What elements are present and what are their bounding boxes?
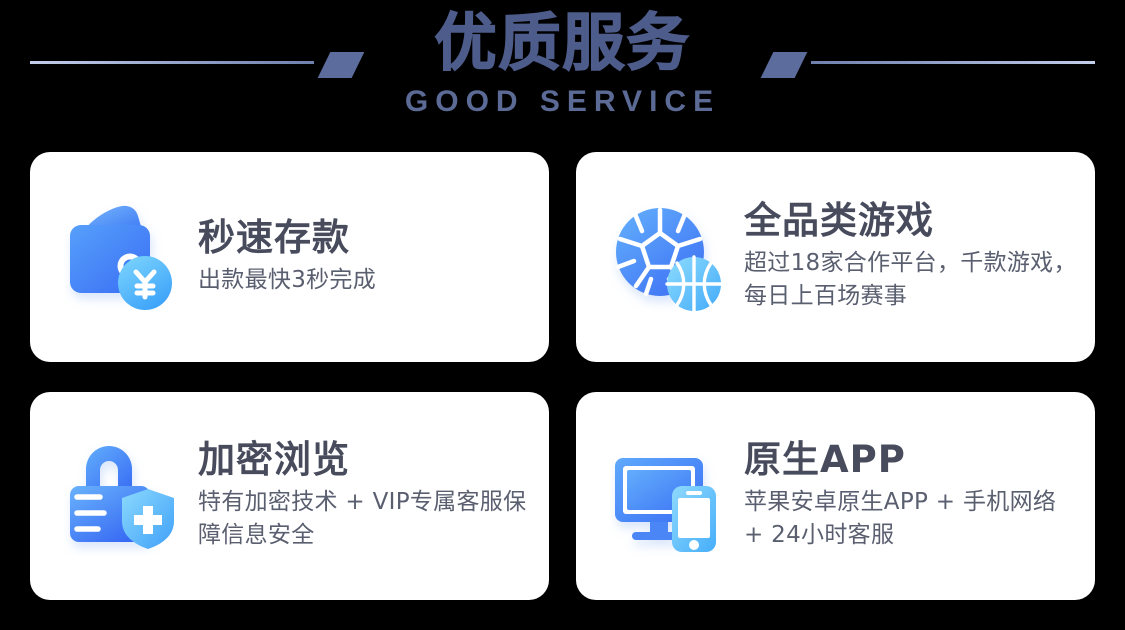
- feature-card-instant-deposit[interactable]: 秒速存款 出款最快3秒完成: [30, 152, 549, 362]
- header-text-group: 优质服务 GOOD SERVICE: [0, 0, 1125, 117]
- page-subtitle: GOOD SERVICE: [405, 87, 720, 117]
- feature-card-encrypted-browsing[interactable]: 加密浏览 特有加密技术 + VIP专属客服保障信息安全: [30, 392, 549, 600]
- card-description: 出款最快3秒完成: [198, 264, 376, 297]
- card-title: 秒速存款: [198, 218, 376, 258]
- page-title: 优质服务: [434, 12, 690, 74]
- card-text-group: 全品类游戏 超过18家合作平台，千款游戏，每日上百场赛事: [744, 201, 1082, 312]
- card-description: 特有加密技术 + VIP专属客服保障信息安全: [198, 486, 543, 551]
- soccer-basketball-icon: [610, 197, 728, 317]
- card-title: 原生APP: [744, 440, 1082, 480]
- feature-card-native-app[interactable]: 原生APP 苹果安卓原生APP + 手机网络 + 24小时客服: [576, 392, 1095, 600]
- card-title: 加密浏览: [198, 440, 543, 480]
- feature-card-all-category-games[interactable]: 全品类游戏 超过18家合作平台，千款游戏，每日上百场赛事: [576, 152, 1095, 362]
- card-text-group: 原生APP 苹果安卓原生APP + 手机网络 + 24小时客服: [744, 440, 1082, 551]
- good-service-banner: 优质服务 GOOD SERVICE: [0, 0, 1125, 630]
- card-description: 超过18家合作平台，千款游戏，每日上百场赛事: [744, 247, 1082, 312]
- card-text-group: 秒速存款 出款最快3秒完成: [198, 218, 376, 297]
- card-text-group: 加密浏览 特有加密技术 + VIP专属客服保障信息安全: [198, 440, 543, 551]
- header: 优质服务 GOOD SERVICE: [0, 0, 1125, 145]
- lock-shield-icon: [64, 436, 182, 556]
- feature-card-grid: 秒速存款 出款最快3秒完成: [30, 152, 1095, 600]
- monitor-phone-icon: [610, 436, 728, 556]
- card-title: 全品类游戏: [744, 201, 1082, 241]
- card-description: 苹果安卓原生APP + 手机网络 + 24小时客服: [744, 486, 1082, 551]
- wallet-yen-icon: [64, 197, 182, 317]
